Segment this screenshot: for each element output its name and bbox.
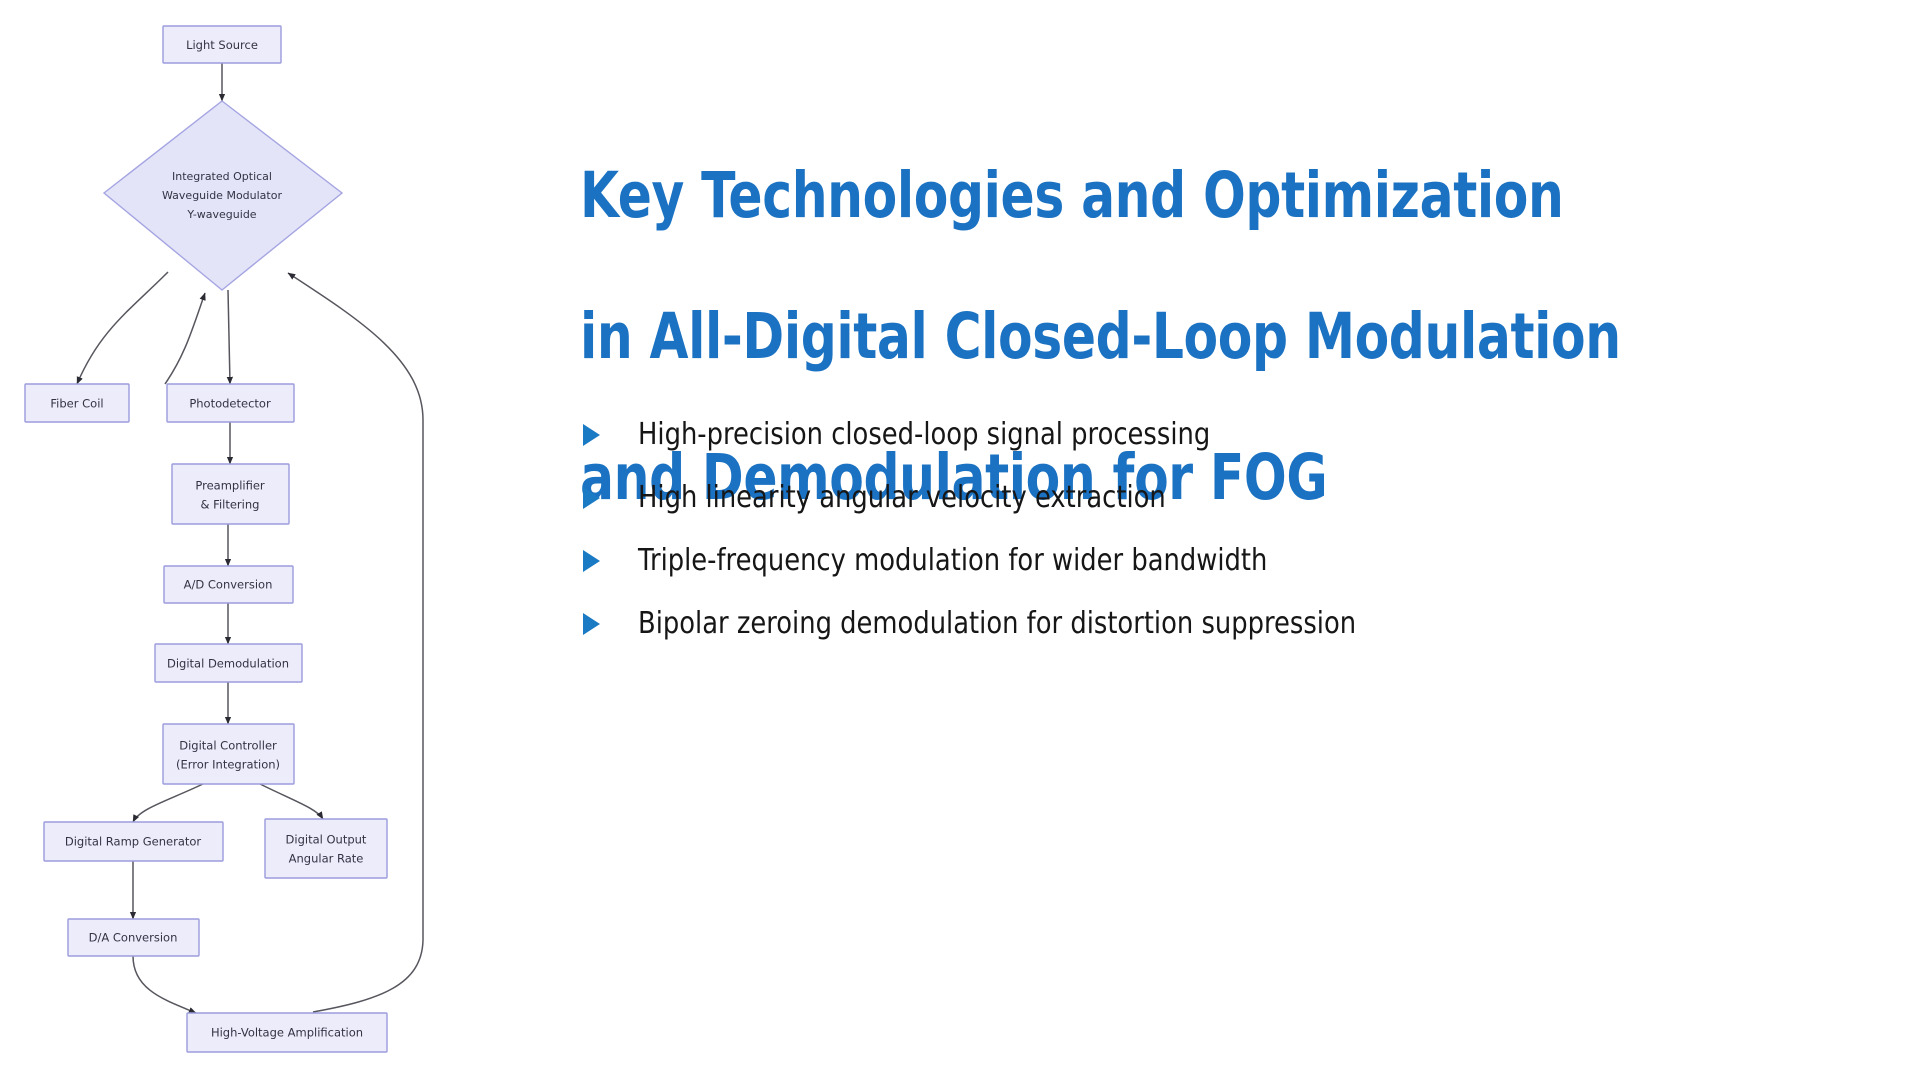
title-line-1: Key Technologies and Optimization: [580, 161, 1572, 232]
title-line-2: in All-Digital Closed-Loop Modulation: [580, 302, 1572, 373]
list-item[interactable]: Triple-frequency modulation for wider ba…: [580, 541, 1780, 581]
bullet-text-1: High-precision closed-loop signal proces…: [638, 415, 1210, 455]
node-label-modulator-line3: Y-waveguide: [186, 208, 256, 221]
edge-hv-amplification-to-modulator: [288, 273, 423, 1012]
node-label-fiber-coil: Fiber Coil: [50, 397, 103, 411]
node-label-digital-output-line2: Angular Rate: [289, 852, 364, 866]
node-label-digital-controller-line2: (Error Integration): [176, 758, 280, 772]
edge-fiber-coil-to-modulator: [165, 293, 205, 384]
node-digital-output[interactable]: Digital Output Angular Rate: [265, 819, 387, 878]
node-ad-conversion[interactable]: A/D Conversion: [164, 566, 293, 603]
node-label-modulator-line1: Integrated Optical: [172, 170, 272, 183]
edge-modulator-to-fiber-coil: [77, 272, 168, 384]
bullet-text-2: High linearity angular velocity extracti…: [638, 478, 1166, 518]
flowchart-diagram: Light Source Integrated Optical Waveguid…: [0, 0, 470, 1080]
slide-root: Light Source Integrated Optical Waveguid…: [0, 0, 1920, 1080]
node-label-digital-controller-line1: Digital Controller: [179, 739, 277, 753]
triangle-bullet-icon: [580, 541, 602, 581]
triangle-bullet-icon: [580, 604, 602, 644]
node-fiber-coil[interactable]: Fiber Coil: [25, 384, 129, 422]
bullet-text-3: Triple-frequency modulation for wider ba…: [638, 541, 1267, 581]
node-photodetector[interactable]: Photodetector: [167, 384, 294, 422]
node-label-ad-conversion: A/D Conversion: [184, 578, 273, 592]
node-label-da-conversion: D/A Conversion: [89, 931, 178, 945]
flowchart-panel: Light Source Integrated Optical Waveguid…: [0, 0, 470, 1080]
node-light-source[interactable]: Light Source: [163, 26, 281, 63]
edge-da-conversion-to-hv-amplification: [133, 956, 196, 1013]
node-label-digital-output-line1: Digital Output: [286, 833, 367, 847]
node-label-photodetector: Photodetector: [189, 397, 271, 411]
node-hv-amplification[interactable]: High-Voltage Amplification: [187, 1013, 387, 1052]
edge-digital-controller-to-digital-output: [258, 783, 323, 819]
bullet-list: High-precision closed-loop signal proces…: [580, 415, 1780, 667]
triangle-bullet-icon: [580, 478, 602, 518]
triangle-bullet-icon: [580, 415, 602, 455]
node-modulator[interactable]: Integrated Optical Waveguide Modulator Y…: [104, 101, 342, 290]
node-label-light-source: Light Source: [186, 38, 258, 52]
node-label-hv-amplification: High-Voltage Amplification: [211, 1026, 363, 1040]
node-label-preamplifier-line1: Preamplifier: [195, 479, 265, 493]
node-label-ramp-generator: Digital Ramp Generator: [65, 835, 202, 849]
node-label-preamplifier-line2: & Filtering: [201, 498, 260, 512]
node-ramp-generator[interactable]: Digital Ramp Generator: [44, 822, 223, 861]
node-label-modulator-line2: Waveguide Modulator: [162, 189, 282, 202]
node-digital-demodulation[interactable]: Digital Demodulation: [155, 644, 302, 682]
edge-digital-controller-to-ramp-generator: [133, 783, 205, 822]
list-item[interactable]: Bipolar zeroing demodulation for distort…: [580, 604, 1780, 644]
bullet-text-4: Bipolar zeroing demodulation for distort…: [638, 604, 1356, 644]
edge-modulator-to-photodetector: [228, 290, 230, 384]
node-da-conversion[interactable]: D/A Conversion: [68, 919, 199, 956]
content-panel: Key Technologies and Optimization in All…: [470, 0, 1920, 1080]
node-preamplifier[interactable]: Preamplifier & Filtering: [172, 464, 289, 524]
node-label-digital-demodulation: Digital Demodulation: [167, 657, 289, 671]
list-item[interactable]: High-precision closed-loop signal proces…: [580, 415, 1780, 455]
node-digital-controller[interactable]: Digital Controller (Error Integration): [163, 724, 294, 784]
list-item[interactable]: High linearity angular velocity extracti…: [580, 478, 1780, 518]
